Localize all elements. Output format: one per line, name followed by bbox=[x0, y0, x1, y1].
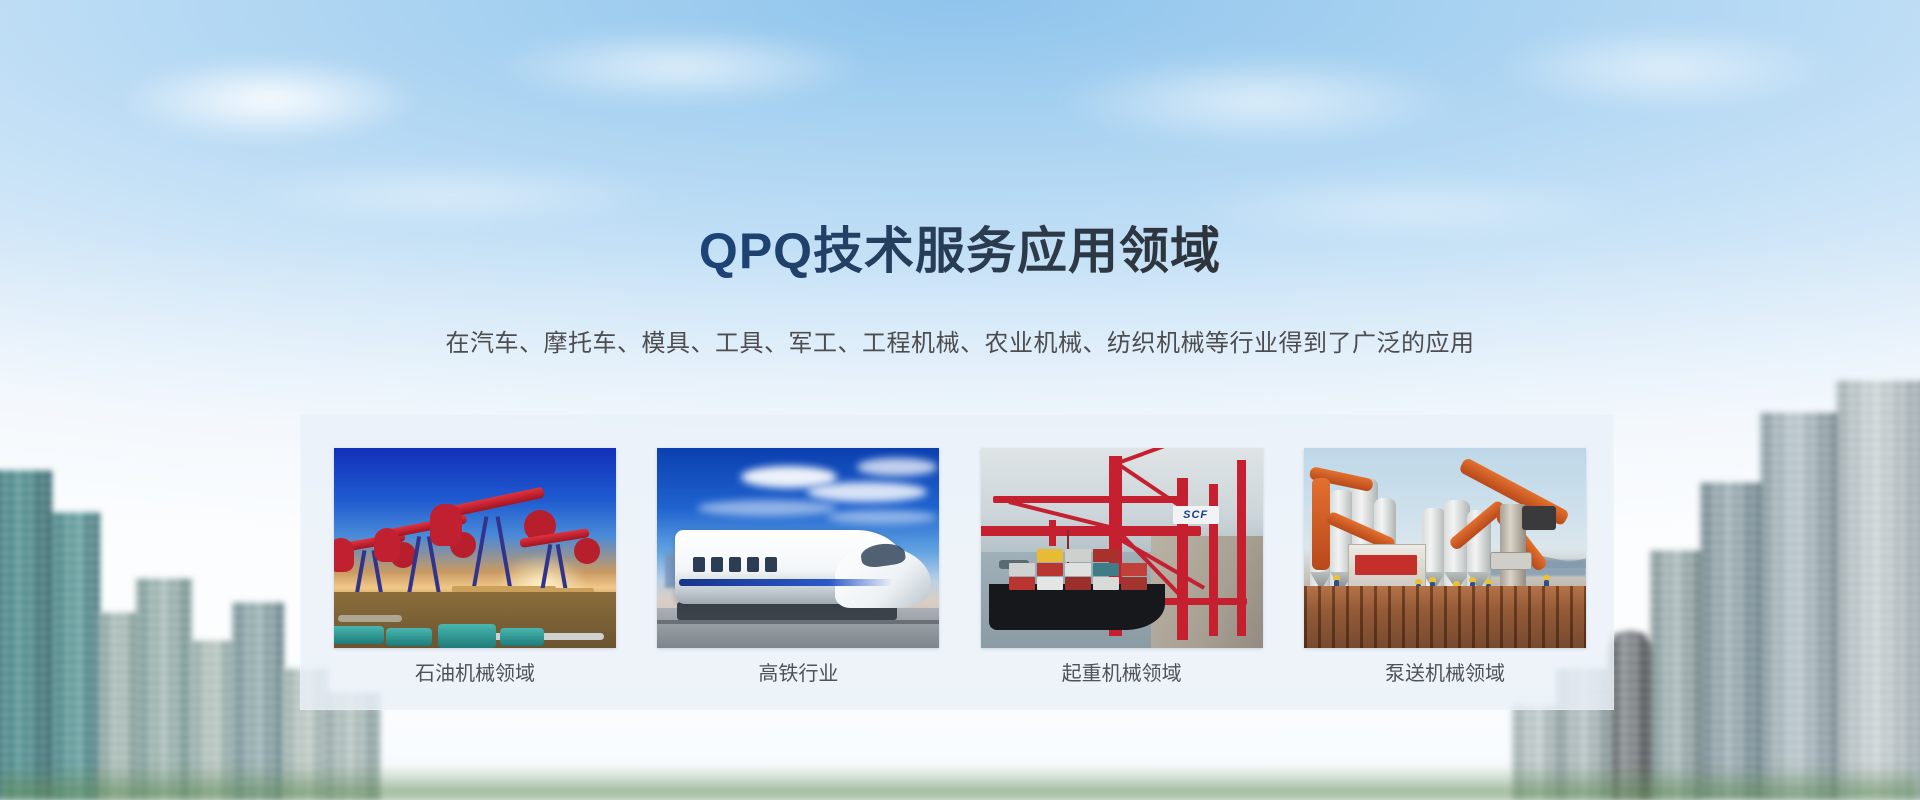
train-window bbox=[765, 557, 777, 572]
page-subtitle: 在汽车、摩托车、模具、工具、军工、工程机械、农业机械、纺织机械等行业得到了广泛的… bbox=[0, 327, 1920, 361]
cloud-shape bbox=[827, 510, 937, 524]
container-box bbox=[1065, 563, 1091, 576]
page-title: QPQ技术服务应用领域 bbox=[0, 222, 1920, 280]
cloud-shape bbox=[697, 500, 837, 516]
container-ship-hull bbox=[989, 584, 1165, 630]
high-speed-train-photo[interactable] bbox=[657, 448, 939, 648]
rebar-deck bbox=[1304, 586, 1586, 648]
building-shape bbox=[1760, 412, 1838, 800]
container-box bbox=[1009, 563, 1035, 576]
card-caption: 高铁行业 bbox=[657, 660, 939, 688]
container-box bbox=[1121, 563, 1147, 576]
container-box bbox=[1093, 577, 1119, 590]
container-box bbox=[1121, 577, 1147, 590]
quay-surface bbox=[1151, 536, 1263, 648]
application-card-oil[interactable]: 石油机械领域 bbox=[334, 448, 616, 648]
card-caption: 石油机械领域 bbox=[334, 660, 616, 688]
pump-scene-art bbox=[1304, 448, 1586, 648]
application-card-train[interactable]: 高铁行业 bbox=[657, 448, 939, 648]
card-caption: 起重机械领域 bbox=[981, 660, 1263, 688]
cloud-shape bbox=[807, 482, 927, 502]
train-scene-art bbox=[657, 448, 939, 648]
container-box bbox=[1065, 549, 1091, 562]
application-card-pump[interactable]: 泵送机械领域 bbox=[1304, 448, 1586, 648]
building-shape bbox=[0, 470, 52, 800]
wellhead-equipment bbox=[386, 628, 432, 646]
container-box bbox=[1065, 577, 1091, 590]
snow-patch bbox=[338, 615, 402, 622]
building-shape bbox=[52, 512, 100, 800]
hero-banner: QPQ技术服务应用领域 在汽车、摩托车、模具、工具、军工、工程机械、农业机械、纺… bbox=[0, 0, 1920, 800]
oil-scene-art bbox=[334, 448, 616, 648]
crane-leg bbox=[1049, 520, 1056, 546]
cloud-shape bbox=[857, 458, 937, 476]
crane-boom bbox=[993, 496, 1183, 503]
train-window bbox=[747, 557, 759, 572]
pump-boom-arm bbox=[1312, 478, 1330, 570]
wellhead-equipment bbox=[438, 624, 496, 648]
port-gantry-crane-photo[interactable]: SCF bbox=[981, 448, 1263, 648]
oil-pumpjack-photo[interactable] bbox=[334, 448, 616, 648]
container-box bbox=[1093, 563, 1119, 576]
crane-scene-art: SCF bbox=[981, 448, 1263, 648]
concrete-pump-photo[interactable] bbox=[1304, 448, 1586, 648]
container-box bbox=[1037, 577, 1063, 590]
building-shape bbox=[1700, 482, 1762, 800]
container-box bbox=[1037, 563, 1063, 576]
site-banner bbox=[1355, 555, 1417, 575]
application-cards-list: 石油机械领域 bbox=[334, 448, 1586, 648]
train-window bbox=[729, 557, 741, 572]
wellhead-equipment bbox=[334, 626, 384, 644]
card-caption: 泵送机械领域 bbox=[1304, 660, 1586, 688]
scf-logo: SCF bbox=[1173, 506, 1219, 524]
crane-boom bbox=[981, 526, 1201, 536]
train-blue-stripe bbox=[679, 579, 893, 586]
application-card-crane[interactable]: SCF 起重机械领域 bbox=[981, 448, 1263, 648]
container-box bbox=[1093, 549, 1119, 562]
building-shape bbox=[1650, 550, 1702, 800]
operator-platform bbox=[1490, 552, 1532, 570]
wellhead-equipment bbox=[500, 628, 544, 646]
foreground-greenery bbox=[0, 766, 1920, 800]
container-box bbox=[1037, 549, 1063, 562]
container-box bbox=[1009, 577, 1035, 590]
operator-cabin bbox=[1522, 506, 1556, 530]
crane-brace bbox=[1114, 448, 1239, 466]
train-window bbox=[711, 557, 723, 572]
train-window bbox=[693, 557, 705, 572]
building-shape bbox=[1836, 380, 1920, 800]
crane-leg bbox=[1237, 460, 1246, 636]
